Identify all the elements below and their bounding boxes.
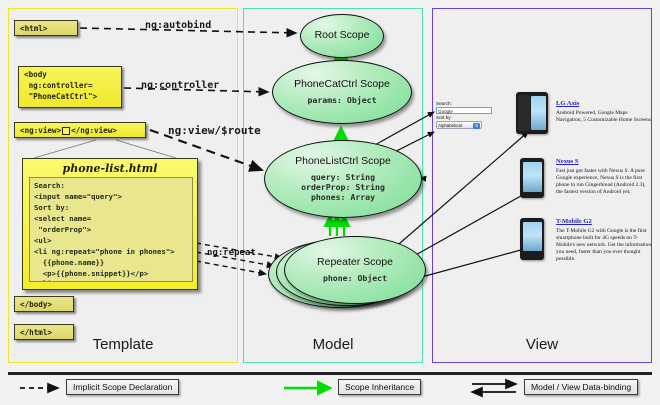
scope-root-name: Root Scope [315, 30, 370, 42]
edge-label-controller: ng:controller [141, 80, 219, 91]
code-box-html-open: <html> [14, 20, 78, 36]
column-label-model: Model [243, 336, 423, 353]
legend-divider [8, 372, 652, 375]
chevron-updown-icon: ⇅ [473, 123, 480, 129]
phone-entry-t-mobile-g2: T-Mobile G2 The T-Mobile G2 with Google … [556, 218, 652, 263]
phone-link-lg-axis[interactable]: LG Axis [556, 100, 652, 107]
legend-scope-inheritance: Scope Inheritance [338, 379, 421, 395]
ngview-close-tag: </ng:view> [71, 126, 117, 135]
sort-select[interactable]: Alphabetical⇅ [436, 121, 482, 129]
legend-implicit-scope-declaration: Implicit Scope Declaration [66, 379, 179, 395]
code-box-html-close: </html> [14, 324, 74, 340]
ngview-placeholder-icon [62, 127, 70, 135]
phone-entry-nexus-s: Nexus S Fast just got faster with Nexus … [556, 158, 652, 196]
phone-snippet-t-mobile-g2: The T-Mobile G2 with Google is the first… [556, 228, 652, 263]
sort-label: Sort by: [436, 115, 496, 121]
edge-label-autobind: ng:autobind [145, 20, 211, 31]
scope-repeater-name: Repeater Scope [317, 257, 393, 269]
phone-image-lg-axis [516, 92, 548, 134]
phone-image-nexus-s [520, 158, 544, 198]
scope-phonecatctrl: PhoneCatCtrl Scope params: Object [272, 60, 412, 124]
phone-link-nexus-s[interactable]: Nexus S [556, 158, 652, 165]
phone-entry-lg-axis: LG Axis Android Powered, Google Maps Nav… [556, 100, 652, 124]
sort-select-value: Alphabetical [438, 123, 462, 128]
edge-label-repeat: ng:repeat [207, 248, 256, 258]
scope-phonelistctrl-props: query: String orderProp: String phones: … [301, 172, 385, 202]
diagram-canvas: Template Model View [0, 0, 660, 405]
legend-model-view-data-binding: Model / View Data-binding [524, 379, 638, 395]
phone-list-note: phone-list.html Search: <input name="que… [22, 158, 198, 290]
scope-repeater: Repeater Scope phone: Object [284, 236, 426, 304]
note-title: phone-list.html [23, 159, 197, 177]
scope-phonecatctrl-name: PhoneCatCtrl Scope [294, 79, 390, 91]
phone-image-t-mobile-g2 [520, 218, 544, 260]
search-form: Search: Google Sort by: Alphabetical⇅ [436, 101, 496, 129]
edge-label-route: ng:view/$route [168, 124, 261, 137]
code-box-ngview: <ng:view></ng:view> [14, 122, 146, 138]
column-label-view: View [432, 336, 652, 353]
scope-root: Root Scope [300, 14, 384, 58]
scope-phonelistctrl: PhoneListCtrl Scope query: String orderP… [264, 140, 422, 218]
scope-repeater-props: phone: Object [323, 273, 387, 283]
scope-phonelistctrl-name: PhoneListCtrl Scope [295, 156, 391, 168]
code-box-body-open: <body ng:controller= "PhoneCatCtrl"> [18, 66, 122, 108]
phone-link-t-mobile-g2[interactable]: T-Mobile G2 [556, 218, 652, 225]
scope-phonecatctrl-props: params: Object [307, 95, 376, 105]
phone-snippet-nexus-s: Fast just got faster with Nexus S. A pur… [556, 168, 652, 196]
phone-snippet-lg-axis: Android Powered, Google Maps Navigation,… [556, 110, 652, 124]
code-box-body-close: </body> [14, 296, 74, 312]
ngview-open-tag: <ng:view> [20, 126, 61, 135]
note-code: Search: <input name="query"> Sort by: <s… [29, 177, 193, 282]
search-input[interactable]: Google [436, 107, 492, 114]
